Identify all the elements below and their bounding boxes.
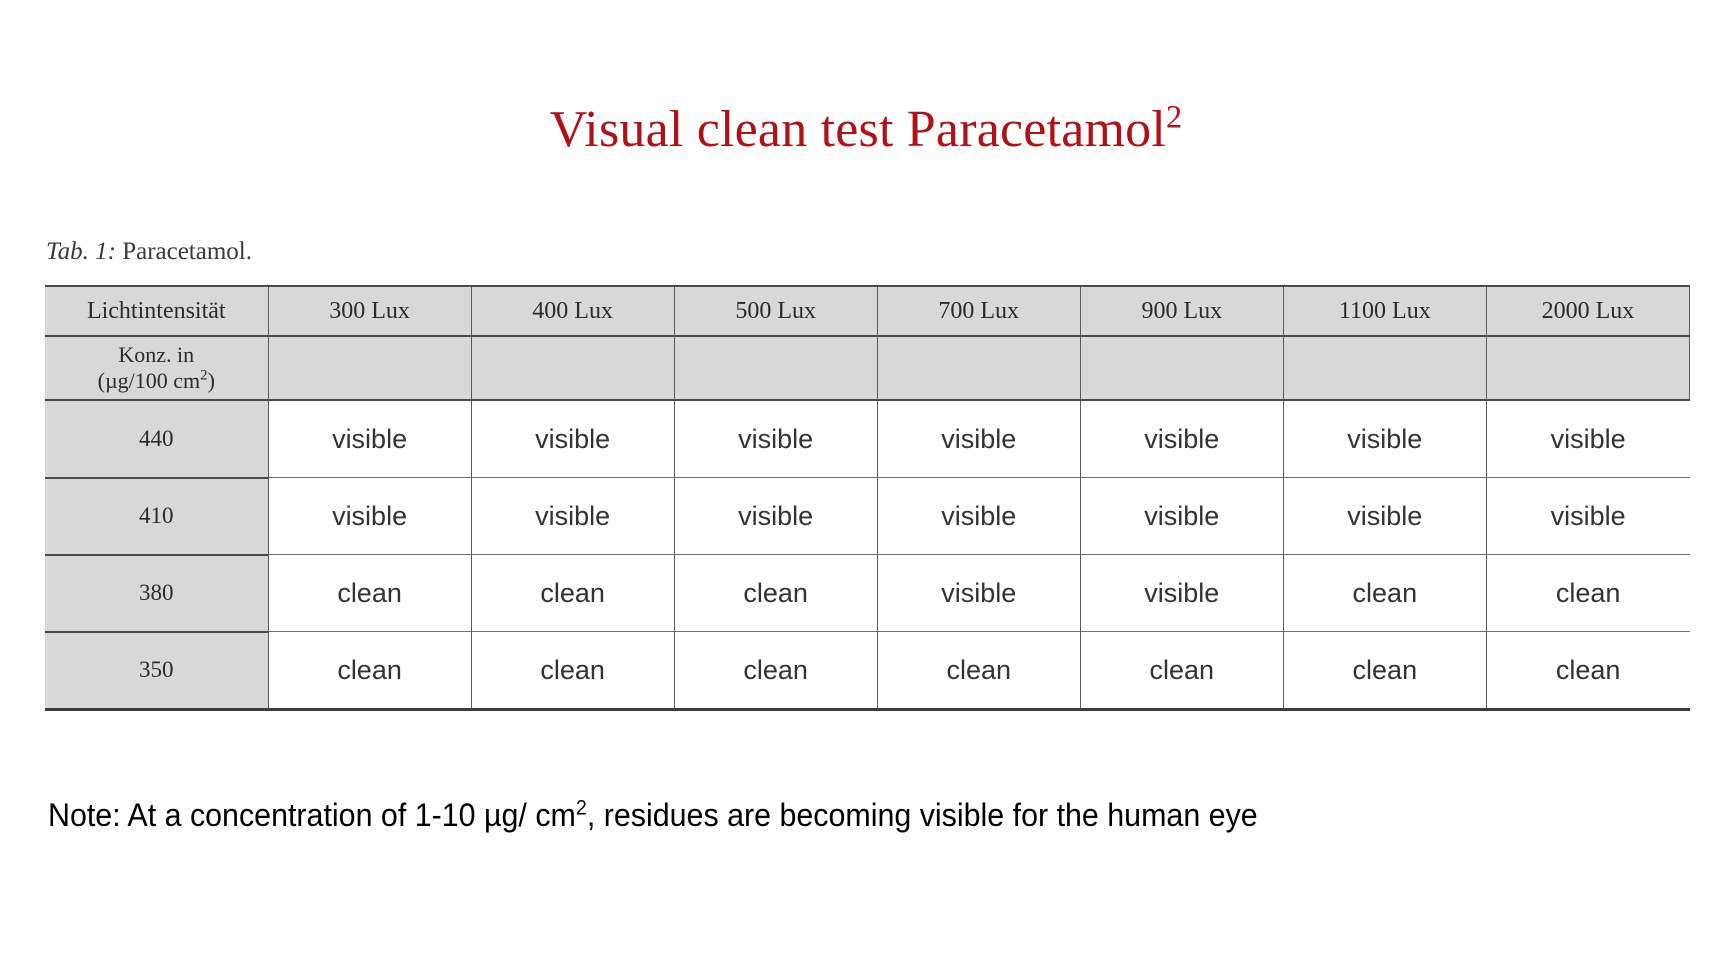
cell-440-700: visible: [877, 400, 1080, 478]
cell-440-900: visible: [1080, 400, 1283, 478]
table-row: 380 clean clean clean visible visible cl…: [45, 555, 1690, 632]
cell-440-2000: visible: [1486, 400, 1689, 478]
cell-350-500: clean: [674, 632, 877, 710]
cell-410-400: visible: [471, 478, 674, 555]
table-header-row: Lichtintensität 300 Lux 400 Lux 500 Lux …: [45, 286, 1690, 336]
visual-clean-test-table: Lichtintensität 300 Lux 400 Lux 500 Lux …: [45, 285, 1690, 711]
slide-canvas: Visual clean test Paracetamol2 Tab. 1: P…: [0, 0, 1732, 976]
row-label-350: 350: [45, 632, 268, 710]
cell-410-1100: visible: [1283, 478, 1486, 555]
cell-410-700: visible: [877, 478, 1080, 555]
column-header-700-lux: 700 Lux: [877, 286, 1080, 336]
cell-440-400: visible: [471, 400, 674, 478]
page-title-superscript: 2: [1166, 99, 1182, 135]
cell-440-1100: visible: [1283, 400, 1486, 478]
cell-440-500: visible: [674, 400, 877, 478]
table-head: Lichtintensität 300 Lux 400 Lux 500 Lux …: [45, 286, 1690, 400]
visual-clean-test-table-container: Lichtintensität 300 Lux 400 Lux 500 Lux …: [45, 285, 1690, 711]
cell-380-400: clean: [471, 555, 674, 632]
table-subheader-row: Konz. in (µg/100 cm2): [45, 336, 1690, 400]
cell-380-500: clean: [674, 555, 877, 632]
cell-350-400: clean: [471, 632, 674, 710]
subheader-spacer-500: [674, 336, 877, 400]
cell-350-300: clean: [268, 632, 471, 710]
page-title-text: Visual clean test Paracetamol: [550, 101, 1166, 158]
table-row: 410 visible visible visible visible visi…: [45, 478, 1690, 555]
column-header-300-lux: 300 Lux: [268, 286, 471, 336]
cell-350-900: clean: [1080, 632, 1283, 710]
subheader-concentration-units: Konz. in (µg/100 cm2): [45, 336, 268, 400]
cell-380-300: clean: [268, 555, 471, 632]
column-header-light-intensity: Lichtintensität: [45, 286, 268, 336]
subheader-line-2-superscript: 2: [200, 368, 207, 384]
subheader-spacer-400: [471, 336, 674, 400]
row-label-440: 440: [45, 400, 268, 478]
cell-350-1100: clean: [1283, 632, 1486, 710]
note-text: Note: At a concentration of 1-10 µg/ cm2…: [48, 795, 1258, 835]
subheader-spacer-700: [877, 336, 1080, 400]
subheader-line-2-suffix: ): [208, 368, 215, 393]
subheader-spacer-2000: [1486, 336, 1689, 400]
table-body: 440 visible visible visible visible visi…: [45, 400, 1690, 710]
row-label-380: 380: [45, 555, 268, 632]
cell-410-300: visible: [268, 478, 471, 555]
subheader-spacer-1100: [1283, 336, 1486, 400]
table-caption-label: Tab. 1:: [46, 238, 116, 265]
page-title: Visual clean test Paracetamol2: [0, 100, 1732, 160]
row-label-410: 410: [45, 478, 268, 555]
table-caption-text: Paracetamol.: [122, 238, 252, 265]
cell-410-900: visible: [1080, 478, 1283, 555]
table-caption: Tab. 1: Paracetamol.: [46, 238, 252, 266]
cell-350-700: clean: [877, 632, 1080, 710]
note-suffix: , residues are becoming visible for the …: [587, 797, 1258, 833]
cell-440-300: visible: [268, 400, 471, 478]
cell-350-2000: clean: [1486, 632, 1689, 710]
cell-380-1100: clean: [1283, 555, 1486, 632]
note-superscript: 2: [576, 796, 587, 819]
column-header-500-lux: 500 Lux: [674, 286, 877, 336]
table-row: 440 visible visible visible visible visi…: [45, 400, 1690, 478]
subheader-line-1: Konz. in: [118, 342, 194, 367]
cell-410-2000: visible: [1486, 478, 1689, 555]
subheader-spacer-900: [1080, 336, 1283, 400]
column-header-400-lux: 400 Lux: [471, 286, 674, 336]
cell-380-900: visible: [1080, 555, 1283, 632]
column-header-2000-lux: 2000 Lux: [1486, 286, 1689, 336]
note-prefix: Note: At a concentration of 1-10 µg/ cm: [48, 797, 576, 833]
column-header-900-lux: 900 Lux: [1080, 286, 1283, 336]
cell-410-500: visible: [674, 478, 877, 555]
cell-380-2000: clean: [1486, 555, 1689, 632]
cell-380-700: visible: [877, 555, 1080, 632]
subheader-line-2-prefix: (µg/100 cm: [98, 368, 201, 393]
column-header-1100-lux: 1100 Lux: [1283, 286, 1486, 336]
subheader-spacer-300: [268, 336, 471, 400]
table-row: 350 clean clean clean clean clean clean …: [45, 632, 1690, 710]
